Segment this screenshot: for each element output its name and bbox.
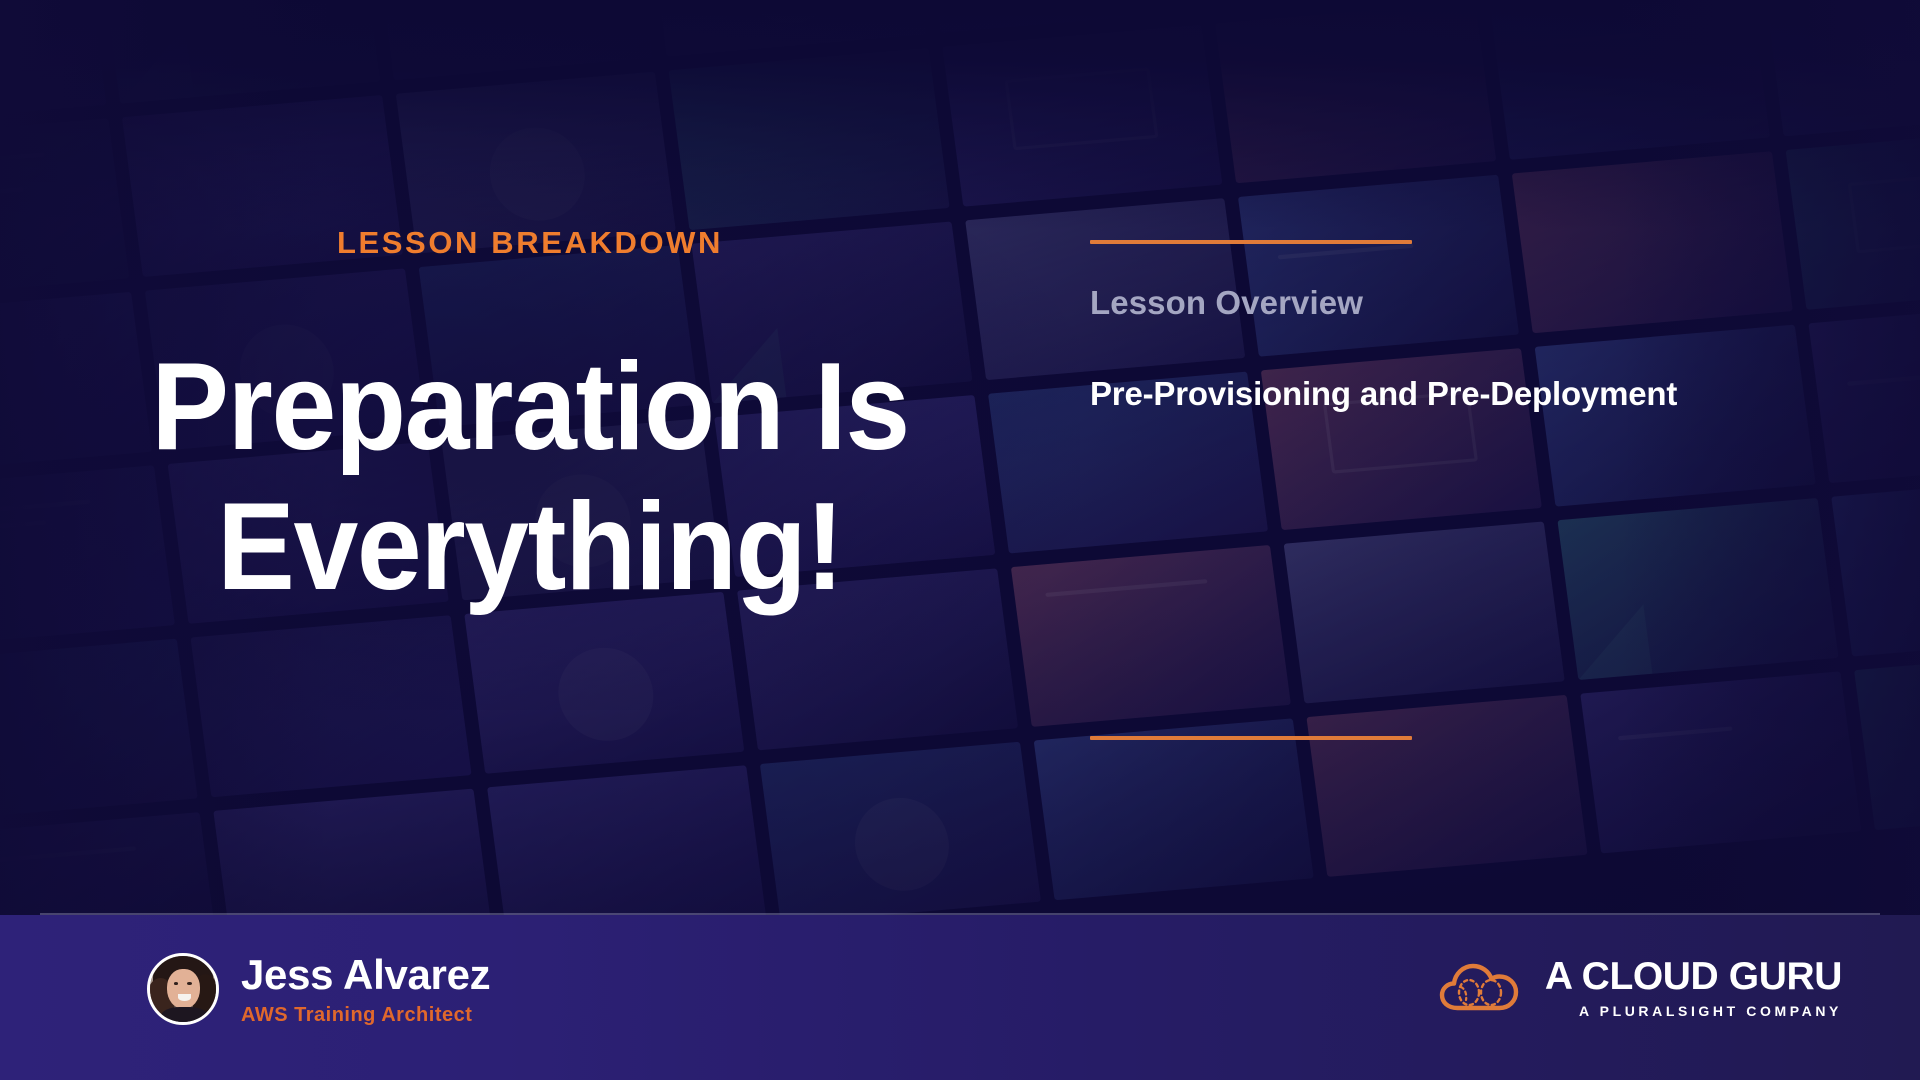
brand-text: A CLOUD GURU A PLURALSIGHT COMPANY xyxy=(1545,955,1842,1018)
page-title: Preparation Is Everything! xyxy=(32,345,1028,609)
brand-tagline: A PLURALSIGHT COMPANY xyxy=(1545,1004,1842,1018)
brand-block: A CLOUD GURU A PLURALSIGHT COMPANY xyxy=(1439,955,1842,1018)
eyebrow-label: LESSON BREAKDOWN xyxy=(0,225,1060,261)
overview-label: Lesson Overview xyxy=(1090,284,1363,322)
overview-rule-top xyxy=(1090,240,1412,244)
presenter-block: Jess Alvarez AWS Training Architect xyxy=(147,953,490,1025)
footer-divider xyxy=(40,913,1880,915)
overview-value: Pre-Provisioning and Pre-Deployment xyxy=(1090,375,1677,413)
headline-line-2: Everything! xyxy=(32,485,1028,609)
presenter-name: Jess Alvarez xyxy=(241,954,490,996)
slide-footer: Jess Alvarez AWS Training Architect A CL… xyxy=(0,915,1920,1080)
cloud-guru-logo-icon xyxy=(1439,961,1523,1013)
brand-name: A CLOUD GURU xyxy=(1545,957,1842,996)
presenter-role: AWS Training Architect xyxy=(241,1005,490,1025)
headline-line-1: Preparation Is xyxy=(151,338,909,476)
avatar xyxy=(147,953,219,1025)
slide-root: LESSON BREAKDOWN Preparation Is Everythi… xyxy=(0,0,1920,1080)
presenter-text: Jess Alvarez AWS Training Architect xyxy=(241,954,490,1025)
overview-rule-bottom xyxy=(1090,736,1412,740)
